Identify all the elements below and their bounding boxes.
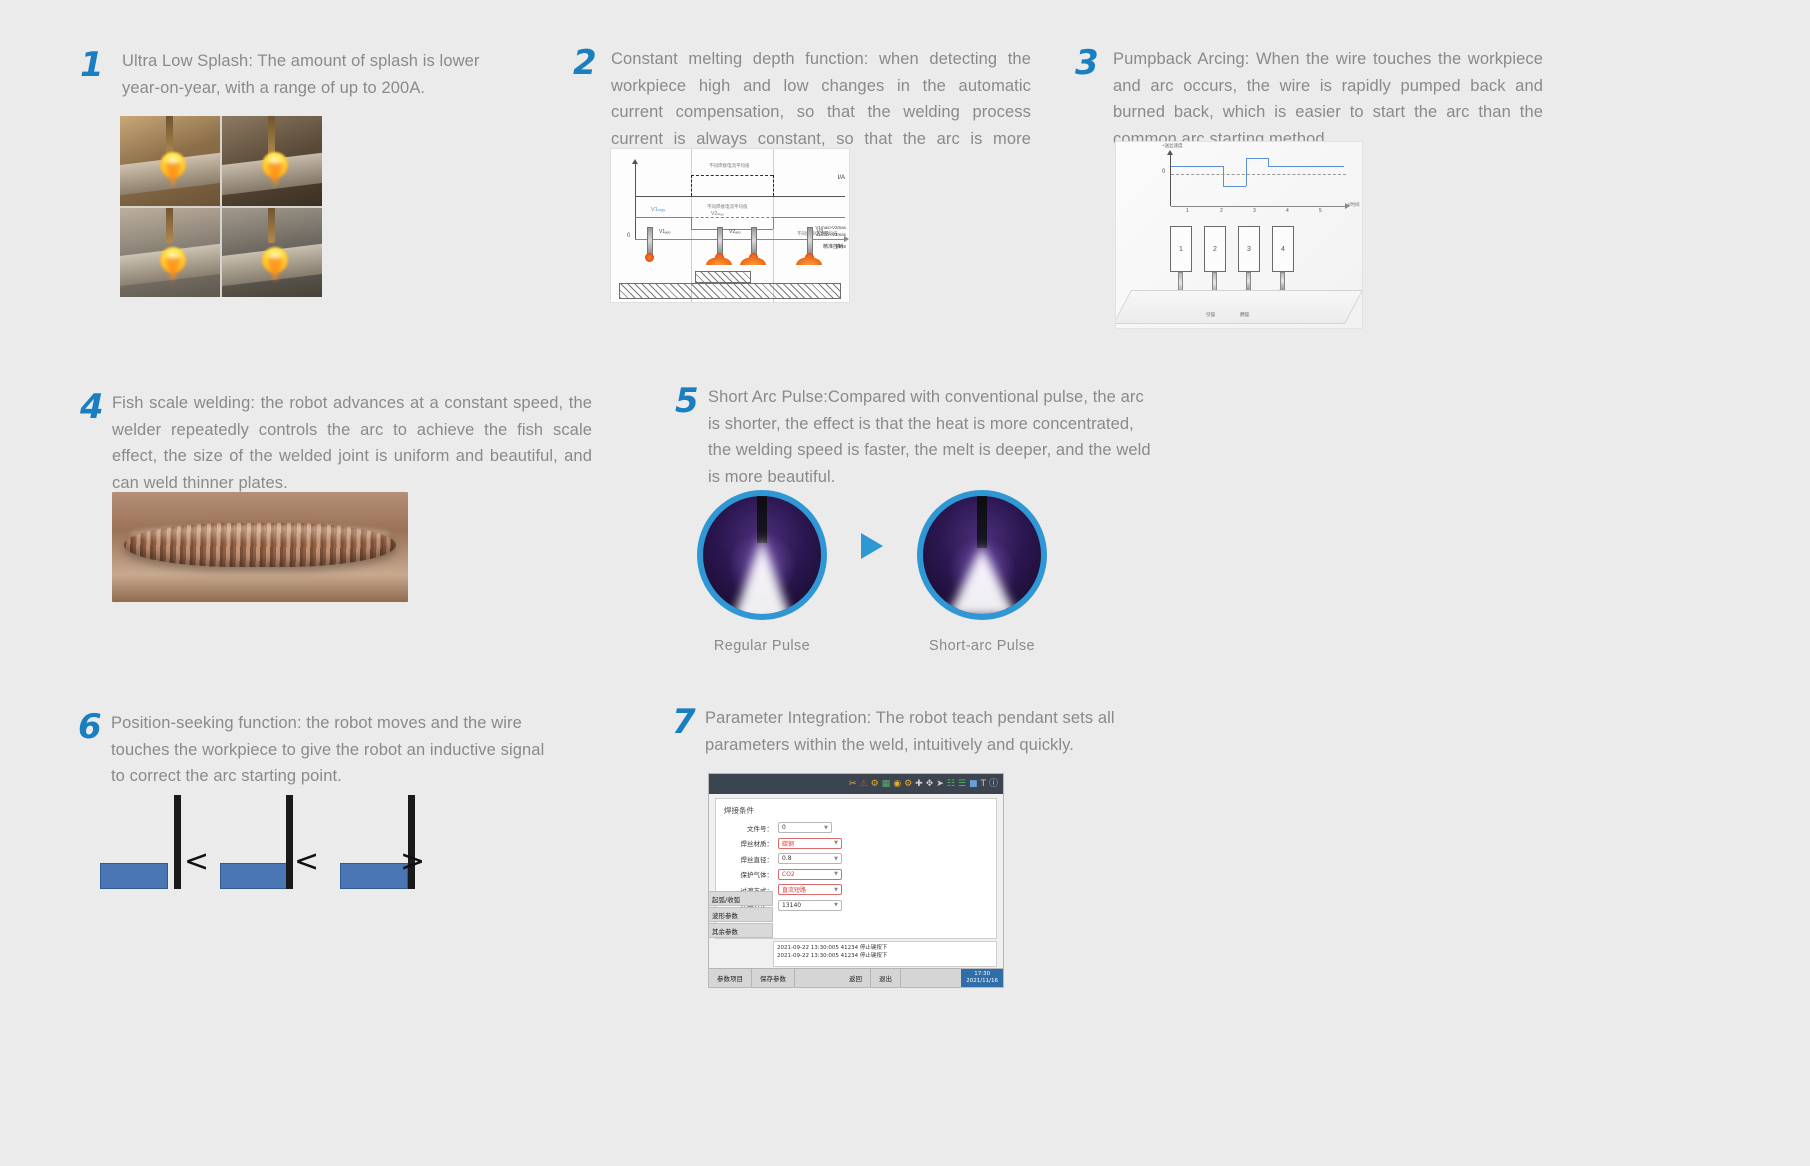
feature-7-text: Parameter Integration: The robot teach p… — [705, 705, 1155, 758]
wire-3 — [1246, 272, 1251, 290]
y-axis — [635, 163, 636, 239]
feature-2-chart: 0 I/A V1ₘₐₓ 不同焊接电流平均值 不同焊接电流平均 — [610, 148, 850, 303]
chart-torch-area: V1ₐᵥₒ V2ₐᵥₒ V3ₐᵥₒ V1max>V2max V1max<V3ma… — [611, 259, 849, 302]
blue-step-up — [773, 217, 774, 229]
chevron-down-icon: ▼ — [834, 887, 838, 893]
status-button-back[interactable]: 返回 — [841, 969, 871, 987]
field-label: 焊丝材质： — [724, 838, 778, 848]
settings-icon[interactable]: ⚙ — [871, 780, 879, 789]
blue-waveform-seg4 — [1268, 166, 1344, 167]
regular-pulse-caption: Regular Pulse — [714, 638, 810, 654]
field-row-shielding-gas: 保护气体： CO2 ▼ — [724, 869, 988, 880]
y-axis-label: I/A — [838, 175, 845, 181]
blue-waveform-up — [1246, 158, 1247, 186]
feature-4-number: 4 — [80, 390, 103, 424]
splash-photo-1 — [120, 116, 220, 206]
blue-waveform-seg2 — [1223, 186, 1246, 187]
feature-7-number: 7 — [672, 705, 695, 739]
tick-label-3: 3 — [1253, 208, 1256, 214]
cross-icon[interactable]: ✚ — [915, 780, 923, 789]
feature-1-image — [120, 116, 322, 297]
wire-material-select[interactable]: 碳钢 ▼ — [778, 838, 842, 849]
origin-label: 0 — [1162, 169, 1165, 175]
arc-cone — [266, 258, 284, 282]
torch-4 — [807, 227, 813, 255]
tick-label-1: 1 — [1186, 208, 1189, 214]
pendant-status-bar: 参数项目 保存参数 返回 退出 17:30 2021/11/16 — [709, 968, 1003, 987]
torch-label-1: V1ₐᵥₒ — [659, 229, 670, 235]
copy-icon[interactable]: ☷ — [947, 780, 955, 789]
feature-7-screenshot: ✂ ⚠ ⚙ ▦ ◉ ⚙ ✚ ✥ ➤ ☷ ☰ ■ T ⓘ 焊接条件 文件号： — [708, 773, 1004, 988]
weld-bead-highlight — [130, 525, 390, 543]
warning-icon[interactable]: ⚠ — [860, 780, 868, 789]
feature-3: 3 Pumpback Arcing: When the wire touches… — [1075, 46, 1545, 153]
field-row-wire-diameter: 焊丝直径： 0.8 ▼ — [724, 853, 988, 864]
status-button-save[interactable]: 保存参数 — [752, 969, 795, 987]
series-label-v2min: V2ₘₐₓ — [711, 211, 724, 217]
teach-pendant-ui: ✂ ⚠ ⚙ ▦ ◉ ⚙ ✚ ✥ ➤ ☷ ☰ ■ T ⓘ 焊接条件 文件号： — [708, 773, 1004, 988]
feature-6: 6 Position-seeking function: the robot m… — [78, 710, 578, 790]
field-row-file-number: 文件号： 0 ▼ — [724, 822, 988, 833]
pendant-side-tabs: 起弧/收弧 波形参数 其余参数 — [709, 891, 773, 939]
workpiece-plate — [340, 863, 408, 889]
arc-cone — [732, 538, 792, 620]
torch-3 — [751, 227, 757, 255]
short-arc-pulse-item: Short-arc Pulse — [917, 490, 1047, 654]
chevron-down-icon: ▼ — [834, 856, 838, 862]
arrow-icon[interactable]: ➤ — [936, 780, 944, 789]
wire-electrode — [286, 795, 293, 889]
solid-constant-line — [635, 196, 845, 197]
feature-4: 4 Fish scale welding: the robot advances… — [80, 390, 600, 497]
status-button-exit[interactable]: 退出 — [871, 969, 901, 987]
droplet-1 — [645, 253, 654, 262]
feature-4-image — [112, 492, 408, 602]
workpiece-base — [619, 283, 841, 299]
workpiece-raised-block — [695, 271, 751, 283]
field-value: CO2 — [782, 871, 795, 878]
blue-waveform-down — [1223, 166, 1224, 186]
ground-plate — [1115, 290, 1363, 324]
feature-5-number: 5 — [675, 384, 698, 418]
short-arc-pulse-caption: Short-arc Pulse — [929, 638, 1035, 654]
torch-label-2: V2ₐᵥₒ — [729, 229, 740, 235]
welding-torch — [268, 116, 275, 157]
feature-3-chart: +送丝速度 0 t/时间 1 2 3 4 5 — [1115, 141, 1363, 329]
weld-pool-4 — [796, 257, 822, 265]
feature-6-number: 6 — [78, 710, 101, 744]
welding-torch — [166, 116, 173, 157]
field-value: 直流短路 — [782, 885, 806, 894]
torch-2 — [717, 227, 723, 255]
feature-1: 1 Ultra Low Splash: The amount of splash… — [80, 48, 520, 101]
seek-step-2: < — [220, 795, 308, 889]
move-icon[interactable]: ✥ — [926, 780, 934, 789]
x-axis — [1171, 206, 1346, 207]
pendant-log-panel[interactable]: 2021-09-22 13:30:005 41234 停止键按下 2021-09… — [773, 941, 997, 967]
target-icon[interactable]: ◉ — [893, 780, 901, 789]
feature-1-number: 1 — [80, 48, 103, 82]
weld-pool-3 — [740, 257, 766, 265]
feature-1-text: Ultra Low Splash: The amount of splash i… — [122, 48, 522, 101]
welding-torch — [268, 208, 275, 244]
welding-torch — [166, 208, 173, 244]
pumpback-arcing-chart: +送丝速度 0 t/时间 1 2 3 4 5 — [1115, 141, 1363, 329]
short-arc-pulse-image — [917, 490, 1047, 620]
field-label: 焊丝直径： — [724, 854, 778, 864]
feature-5: 5 Short Arc Pulse:Compared with conventi… — [675, 384, 1175, 491]
y-axis-arrow — [632, 159, 638, 164]
tab-waveform-params[interactable]: 波形参数 — [709, 907, 773, 922]
splash-photo-2 — [222, 116, 322, 206]
torch-1 — [647, 227, 653, 255]
tick-label-5: 5 — [1319, 208, 1322, 214]
blue-waveform-seg1 — [1171, 166, 1223, 167]
stop-icon[interactable]: ■ — [969, 780, 978, 789]
origin-label: 0 — [627, 233, 630, 239]
fish-scale-weld-photo — [112, 492, 408, 602]
blue-step-down — [691, 217, 692, 229]
log-line: 2021-09-22 13:30:005 41234 停止键按下 — [777, 952, 993, 960]
log-line: 2021-09-22 13:30:005 41234 停止键按下 — [777, 944, 993, 952]
blue-dashed-ref — [635, 217, 845, 218]
position-seeking-diagram: < < > — [100, 795, 428, 889]
info-icon[interactable]: ⓘ — [989, 780, 998, 789]
file-number-select[interactable]: 0 ▼ — [778, 822, 832, 833]
wire-diameter-select[interactable]: 0.8 ▼ — [778, 853, 842, 864]
tick-label-2: 2 — [1220, 208, 1223, 214]
list-icon[interactable]: ☰ — [958, 780, 966, 789]
dashed-high-step-up — [691, 175, 692, 196]
blue-waveform-seg3 — [1246, 158, 1268, 159]
arc-cone — [164, 163, 182, 187]
stage-box-2: 2 — [1204, 226, 1226, 272]
gear-icon[interactable]: ⚙ — [904, 780, 912, 789]
formula-2: V1max<V3max — [815, 232, 846, 237]
field-value: 0.8 — [782, 855, 792, 862]
electrode-wire — [757, 496, 767, 543]
splash-photo-4 — [222, 208, 322, 298]
arc-cone — [266, 163, 284, 187]
clock-time: 17:30 — [974, 971, 990, 978]
status-button-params[interactable]: 参数项目 — [709, 969, 752, 987]
feature-2: 2 Constant melting depth function: when … — [573, 46, 1043, 180]
seek-step-3: > — [340, 795, 428, 889]
play-triangle-icon — [861, 533, 883, 559]
field-label: 文件号： — [724, 823, 778, 833]
text-icon[interactable]: T — [980, 780, 986, 789]
contact-arrow-icon: > — [400, 847, 425, 877]
weld-pool-2 — [706, 257, 732, 265]
feature-5-text: Short Arc Pulse:Compared with convention… — [708, 384, 1158, 491]
feature-3-number: 3 — [1075, 46, 1098, 80]
arc-cone — [164, 258, 182, 282]
x-axis-label: t/时间 — [1348, 202, 1360, 208]
series-label-v1min: V1ₘₐₓ — [651, 207, 665, 213]
splash-photo-grid — [120, 116, 322, 297]
tab-arc-start-end[interactable]: 起弧/收弧 — [709, 891, 773, 906]
waveform-area: +送丝速度 0 t/时间 1 2 3 4 5 — [1116, 142, 1363, 222]
annotation-high: 不同焊接电流平均值 — [709, 163, 750, 169]
stage-box-3: 3 — [1238, 226, 1260, 272]
field-row-wire-material: 焊丝材质： 碳钢 ▼ — [724, 838, 988, 849]
contact-arrow-icon: < — [184, 847, 209, 877]
regular-pulse-image — [697, 490, 827, 620]
splash-photo-3 — [120, 208, 220, 298]
field-value: 0 — [782, 824, 786, 831]
clock-date: 2021/11/16 — [966, 978, 998, 985]
pulse-comparison: Regular Pulse Short-arc Pulse — [697, 490, 1047, 654]
dashed-high-mid — [691, 175, 773, 176]
plugin-icon[interactable]: ▦ — [882, 780, 891, 789]
pendant-toolbar: ✂ ⚠ ⚙ ▦ ◉ ⚙ ✚ ✥ ➤ ☷ ☰ ■ T ⓘ — [709, 774, 1003, 794]
wire-electrode — [174, 795, 181, 889]
blue-waveform-down2 — [1268, 158, 1269, 166]
chevron-down-icon: ▼ — [824, 825, 828, 831]
tab-other-params[interactable]: 其余参数 — [709, 923, 773, 938]
feature-3-text: Pumpback Arcing: When the wire touches t… — [1113, 46, 1543, 153]
stage-box-4: 4 — [1272, 226, 1294, 272]
melting-depth-chart: 0 I/A V1ₘₐₓ 不同焊接电流平均值 不同焊接电流平均 — [610, 148, 850, 303]
zero-line — [1171, 174, 1346, 175]
stage-caption-3: 燃弧 — [1240, 312, 1249, 318]
feature-2-number: 2 — [573, 46, 596, 80]
field-value: 13140 — [782, 902, 801, 909]
chevron-down-icon: ▼ — [834, 871, 838, 877]
shielding-gas-select[interactable]: CO2 ▼ — [778, 869, 842, 880]
y-axis-arrow — [1167, 150, 1173, 155]
dashed-high-step-down — [773, 175, 774, 196]
stage-caption-2: 引弧 — [1206, 312, 1215, 318]
tick-label-4: 4 — [1286, 208, 1289, 214]
annotation-mid: 不同焊接电流平均值 — [707, 204, 748, 210]
stage-box-1: 1 — [1170, 226, 1192, 272]
feature-7: 7 Parameter Integration: The robot teach… — [672, 705, 1172, 758]
x-axis — [635, 239, 845, 240]
feature-4-text: Fish scale welding: the robot advances a… — [112, 390, 592, 497]
workpiece-plate — [220, 863, 288, 889]
y-axis — [1170, 154, 1171, 206]
feature-6-text: Position-seeking function: the robot mov… — [111, 710, 561, 790]
transfer-mode-select[interactable]: 直流短路 ▼ — [778, 884, 842, 895]
workpiece-plate — [100, 863, 168, 889]
electrode-wire — [977, 496, 987, 548]
chevron-down-icon: ▼ — [834, 840, 838, 846]
field-label: 保护气体： — [724, 869, 778, 879]
seek-step-1: < — [100, 795, 188, 889]
field-value: 碳钢 — [782, 839, 794, 848]
y-axis-label: +送丝速度 — [1162, 143, 1183, 149]
wire-4 — [1280, 272, 1285, 290]
tools-icon[interactable]: ✂ — [849, 780, 857, 789]
contact-arrow-icon: < — [294, 847, 319, 877]
regular-pulse-item: Regular Pulse — [697, 490, 827, 654]
clock-display: 17:30 2021/11/16 — [961, 969, 1003, 987]
weld-method-select[interactable]: 13140 ▼ — [778, 900, 842, 911]
chevron-down-icon: ▼ — [834, 902, 838, 908]
footer-note: 精准控制 — [823, 243, 843, 250]
formula-1: V1max>V2max — [815, 225, 846, 230]
arc-cone — [948, 546, 1016, 616]
panel-title: 焊接条件 — [724, 805, 988, 816]
